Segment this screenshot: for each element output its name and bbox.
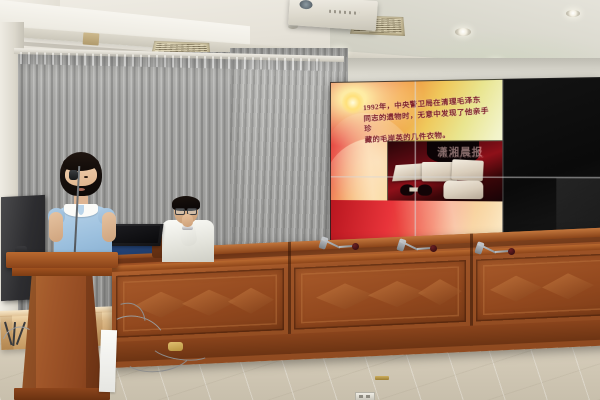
projector-cable (312, 0, 343, 7)
downlight-5 (566, 10, 580, 17)
speaker-arm-left (49, 212, 63, 242)
cable-tape-1 (168, 342, 183, 351)
downlight-3 (455, 28, 471, 36)
projector-vent (329, 10, 359, 15)
speaker-eye-right (84, 176, 88, 178)
floor-power-outlet (355, 392, 375, 400)
eyeglasses-icon (175, 208, 197, 213)
podium-microphone (69, 170, 78, 180)
speaker-arm-right (102, 212, 116, 242)
speaker-white-collar (64, 204, 98, 217)
speaker-at-podium (46, 150, 118, 262)
cable-tape-2 (375, 376, 389, 380)
podium-neck (12, 268, 112, 276)
attendee-hand (182, 214, 193, 227)
right-wall-shadow (320, 58, 600, 80)
laptop-screen (112, 226, 160, 243)
desk-panel-center (294, 260, 466, 330)
podium-base (14, 388, 110, 400)
seated-attendee (160, 198, 220, 260)
conference-room-photo: 1992年，中央警卫局在清理毛泽东 同志的遗物时，无意中发现了他亲手珍 藏的毛岸… (0, 0, 600, 400)
wall-outlet (83, 32, 100, 45)
desk-panel-right (476, 253, 600, 321)
video-wall-display[interactable]: 1992年，中央警卫局在清理毛泽东 同志的遗物时，无意中发现了他亲手珍 藏的毛岸… (330, 77, 600, 249)
podium-top (6, 252, 118, 268)
video-wall-frame (330, 77, 600, 249)
